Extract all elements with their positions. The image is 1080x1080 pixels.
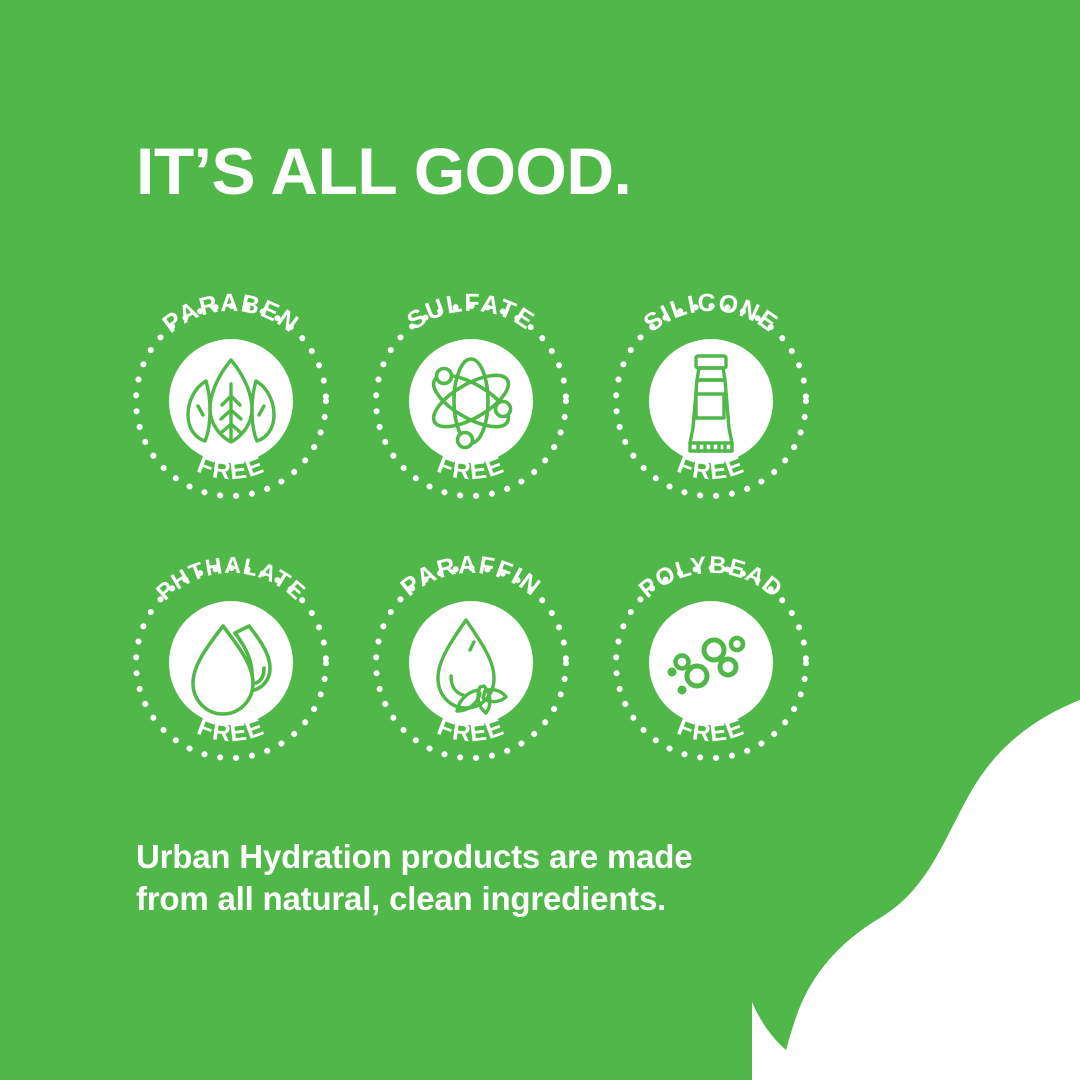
badge-disc (649, 601, 773, 725)
badge-top-label: POLYBEAD (634, 552, 788, 604)
caption-line-2: from all natural, clean ingredients. (136, 878, 816, 920)
badge-paraffin-free[interactable]: PARAFFIN FREE (358, 550, 584, 776)
page-title: IT’S ALL GOOD. (136, 138, 631, 204)
badge-top-label: SULFATE (402, 289, 539, 336)
badge-paraben-free[interactable]: PARABEN FREE (118, 288, 344, 514)
badge-top-label: PHTHALATE (151, 552, 311, 605)
badge-row-2: PHTHALATE FREE (118, 550, 818, 776)
badge-top-label: PARABEN (157, 289, 304, 339)
badge-phthalate-free[interactable]: PHTHALATE FREE (118, 550, 344, 776)
badge-silicone-free[interactable]: SILICONE FREE (598, 288, 824, 514)
badge-top-label: PARAFFIN (395, 551, 546, 602)
caption-line-1: Urban Hydration products are made (136, 836, 816, 878)
badge-top-label: SILICONE (639, 289, 784, 338)
caption-text: Urban Hydration products are made from a… (136, 836, 816, 919)
badge-row-1: PARABEN FREE (118, 288, 818, 514)
badge-sulfate-free[interactable]: SULFATE FREE (358, 288, 584, 514)
claims-badge-grid: PARABEN FREE (118, 288, 818, 776)
badge-polybead-free[interactable]: POLYBEAD FREE (598, 550, 824, 776)
poster-canvas: IT’S ALL GOOD. (0, 0, 1080, 1080)
